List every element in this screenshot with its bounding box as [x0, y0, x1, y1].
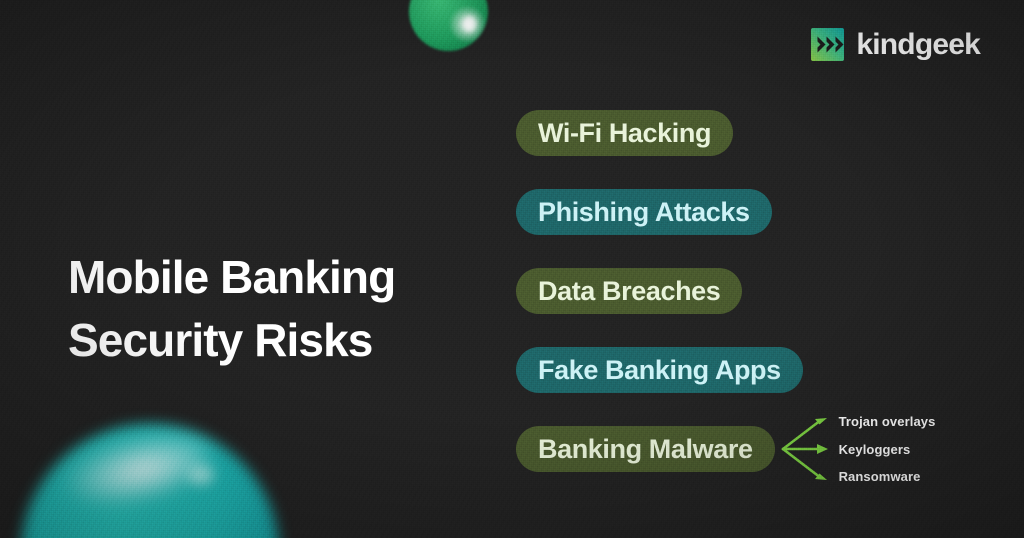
- branch-arrows-icon: [781, 411, 835, 487]
- risk-item: Wi-Fi Hacking: [516, 110, 835, 156]
- risk-item: Banking Malware Trojan overlays: [516, 426, 835, 472]
- risk-pill-wifi-hacking[interactable]: Wi-Fi Hacking: [516, 110, 733, 156]
- malware-branch-group: Trojan overlays Keyloggers Ransomware: [781, 411, 835, 487]
- green-sphere-decoration: [409, 0, 488, 51]
- risk-list: Wi-Fi Hacking Phishing Attacks Data Brea…: [516, 110, 835, 505]
- branch-label-trojan-overlays: Trojan overlays: [839, 415, 936, 428]
- page-title-line-2: Security Risks: [68, 309, 498, 372]
- risk-pill-data-breaches[interactable]: Data Breaches: [516, 268, 742, 314]
- risk-pill-fake-banking-apps[interactable]: Fake Banking Apps: [516, 347, 803, 393]
- brand-name: kindgeek: [856, 30, 980, 60]
- infographic-canvas: kindgeek Mobile Banking Security Risks W…: [0, 0, 1024, 538]
- page-title-line-1: Mobile Banking: [68, 246, 498, 309]
- page-title: Mobile Banking Security Risks: [68, 246, 498, 373]
- risk-item: Fake Banking Apps: [516, 347, 835, 393]
- malware-branch-labels: Trojan overlays Keyloggers Ransomware: [839, 415, 936, 483]
- branch-label-ransomware: Ransomware: [839, 470, 936, 483]
- risk-pill-phishing-attacks[interactable]: Phishing Attacks: [516, 189, 772, 235]
- double-chevron-icon: [811, 28, 844, 61]
- risk-item: Phishing Attacks: [516, 189, 835, 235]
- branch-label-keyloggers: Keyloggers: [839, 443, 936, 456]
- teal-sphere-specular: [188, 465, 214, 485]
- risk-item: Data Breaches: [516, 268, 835, 314]
- risk-pill-banking-malware[interactable]: Banking Malware: [516, 426, 775, 472]
- brand-logo: kindgeek: [811, 28, 980, 61]
